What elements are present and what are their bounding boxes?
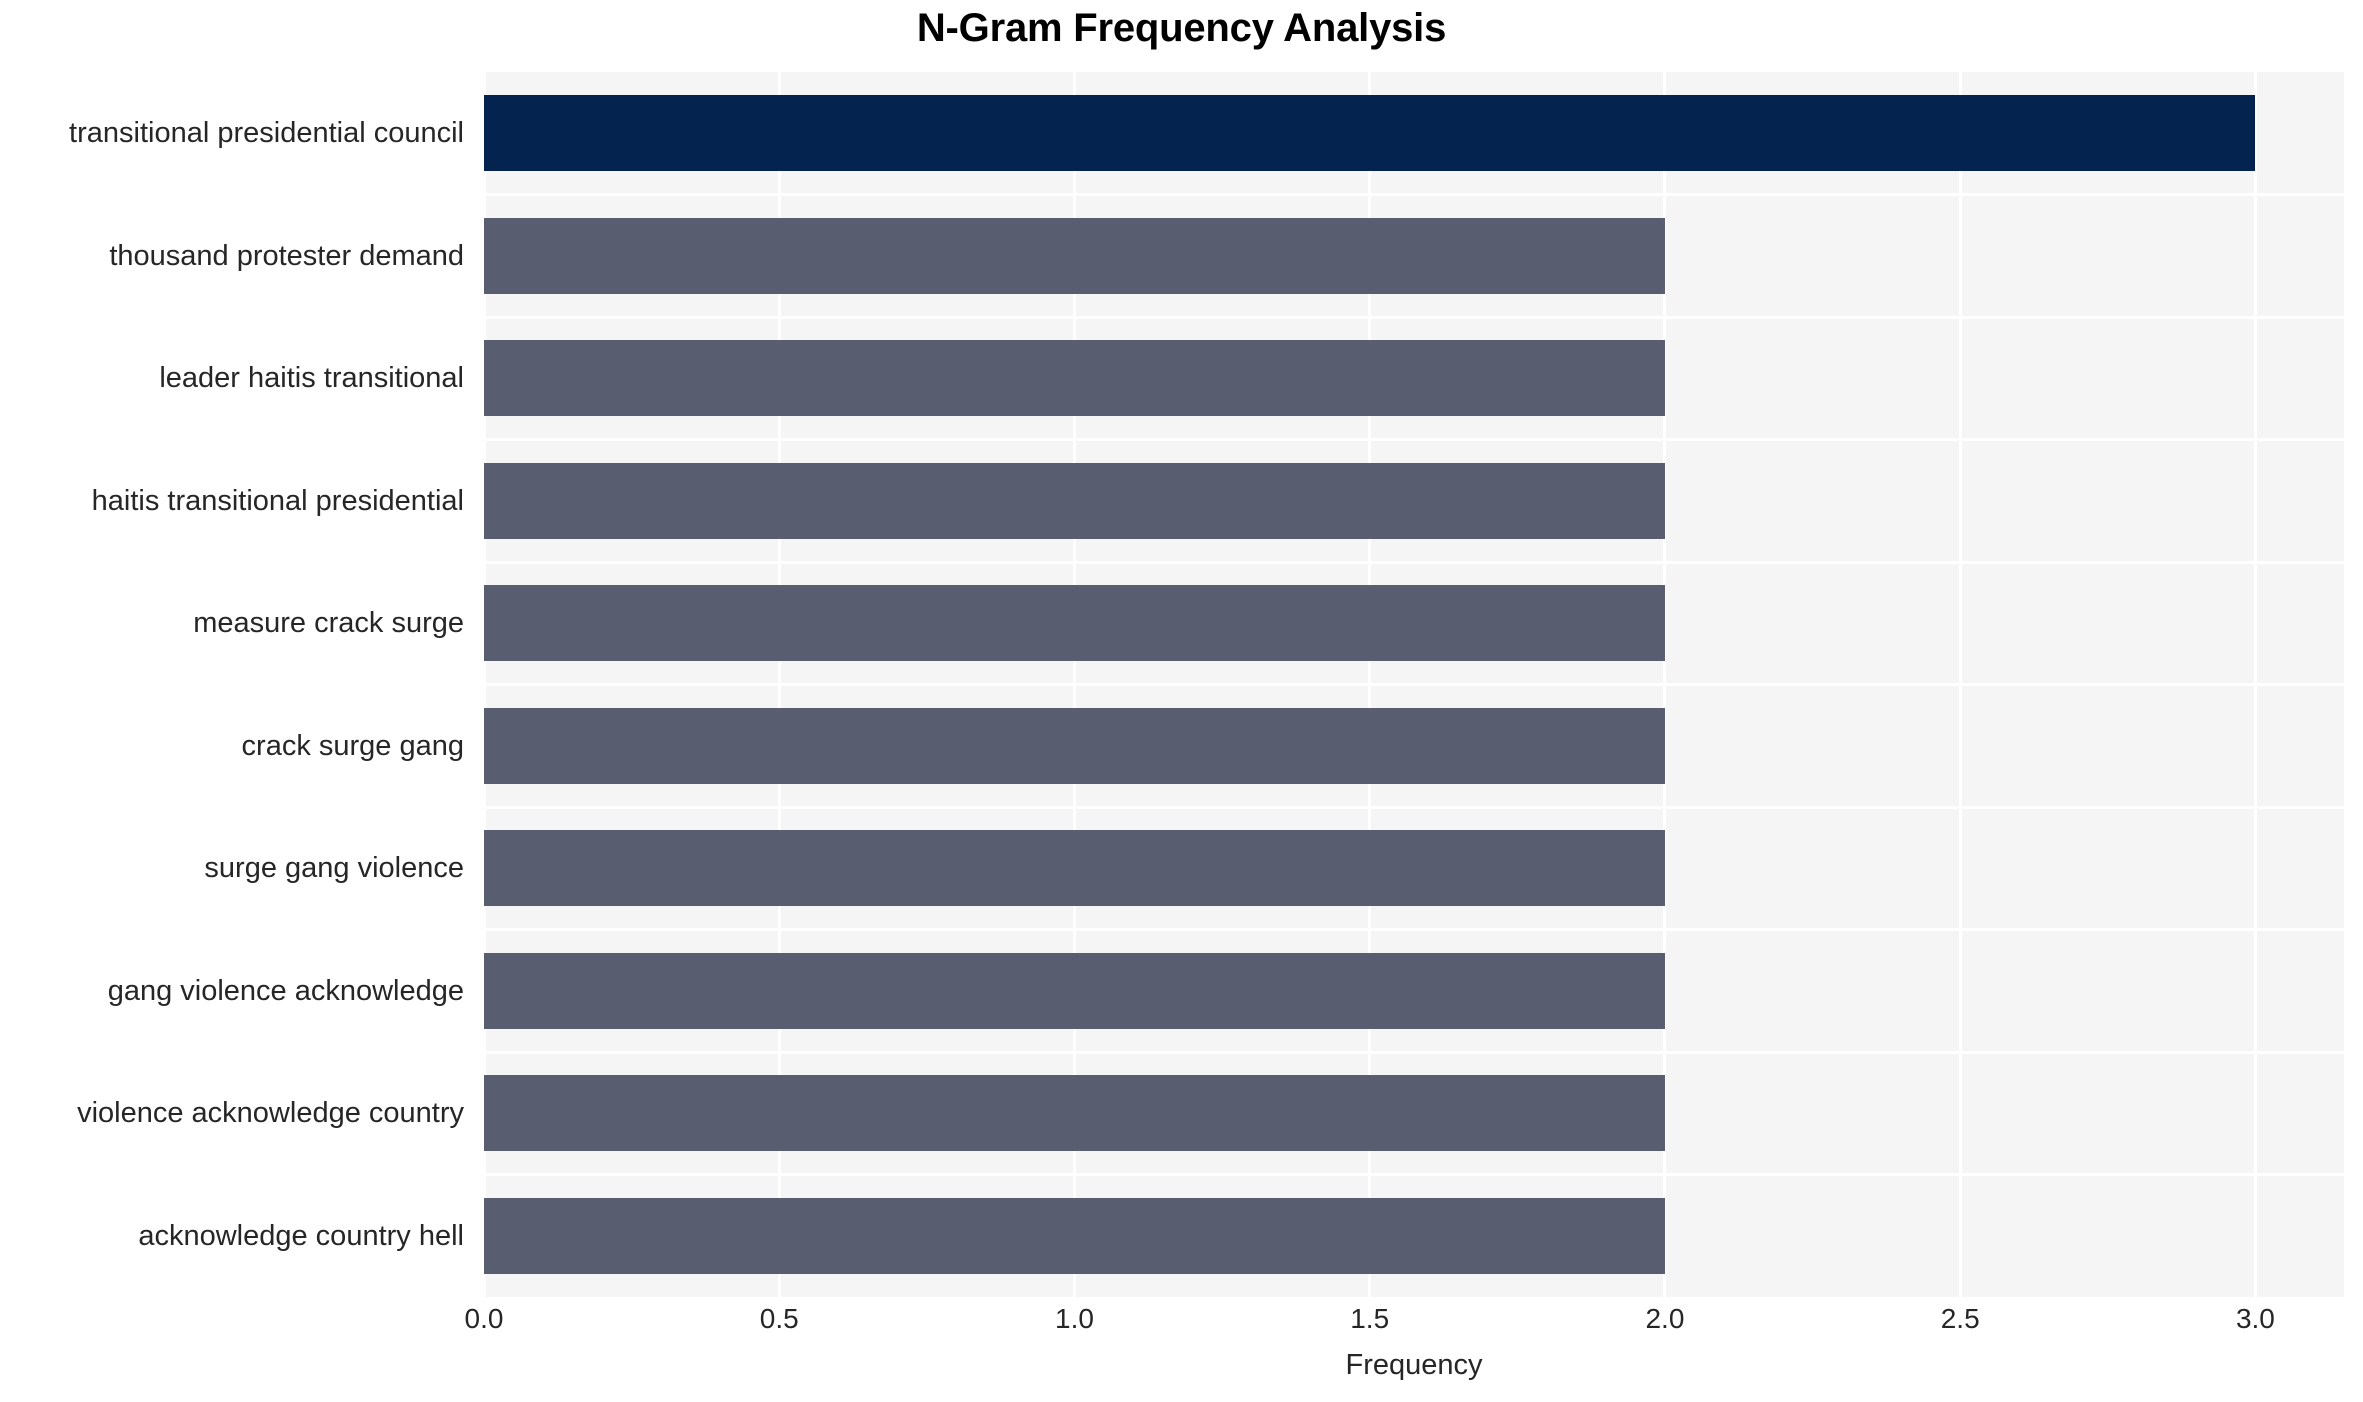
bar [484,340,1665,416]
bar [484,830,1665,906]
x-axis-tick-label: 0.5 [760,1302,799,1336]
x-axis-tick-label: 3.0 [2236,1302,2275,1336]
x-axis-tick-label: 1.0 [1055,1302,1094,1336]
horizontal-gridline [484,1173,2344,1176]
bar [484,218,1665,294]
x-axis-title: Frequency [484,1348,2344,1382]
x-axis-tick-label: 1.5 [1350,1302,1389,1336]
bar [484,953,1665,1029]
y-axis-tick-label: crack surge gang [242,729,464,763]
horizontal-gridline [484,928,2344,931]
y-axis-tick-label: transitional presidential council [69,116,464,150]
y-axis-tick-label: haitis transitional presidential [92,484,464,518]
horizontal-gridline [484,438,2344,441]
plot-area [484,72,2344,1297]
bar [484,1198,1665,1274]
bar [484,95,2255,171]
y-axis-tick-label: leader haitis transitional [159,361,464,395]
bar [484,585,1665,661]
horizontal-gridline [484,561,2344,564]
x-axis-tick-label: 0.0 [465,1302,504,1336]
y-axis-tick-label: surge gang violence [204,851,464,885]
y-axis-tick-label: thousand protester demand [109,239,464,273]
y-axis-tick-label: measure crack surge [193,606,464,640]
y-axis-label-group: transitional presidential councilthousan… [0,72,472,1297]
horizontal-gridline [484,316,2344,319]
bar [484,708,1665,784]
x-axis-tick-label: 2.0 [1645,1302,1684,1336]
bar [484,1075,1665,1151]
y-axis-tick-label: gang violence acknowledge [108,974,464,1008]
chart-title: N-Gram Frequency Analysis [0,5,2363,51]
chart-figure: N-Gram Frequency Analysis transitional p… [0,0,2363,1402]
horizontal-gridline [484,806,2344,809]
x-axis-tick-group: 0.00.51.01.52.02.53.0 [484,1302,2344,1348]
horizontal-gridline [484,1051,2344,1054]
x-axis-tick-label: 2.5 [1941,1302,1980,1336]
horizontal-gridline [484,683,2344,686]
bar [484,463,1665,539]
y-axis-tick-label: violence acknowledge country [77,1096,464,1130]
y-axis-tick-label: acknowledge country hell [138,1219,464,1253]
horizontal-gridline [484,193,2344,196]
